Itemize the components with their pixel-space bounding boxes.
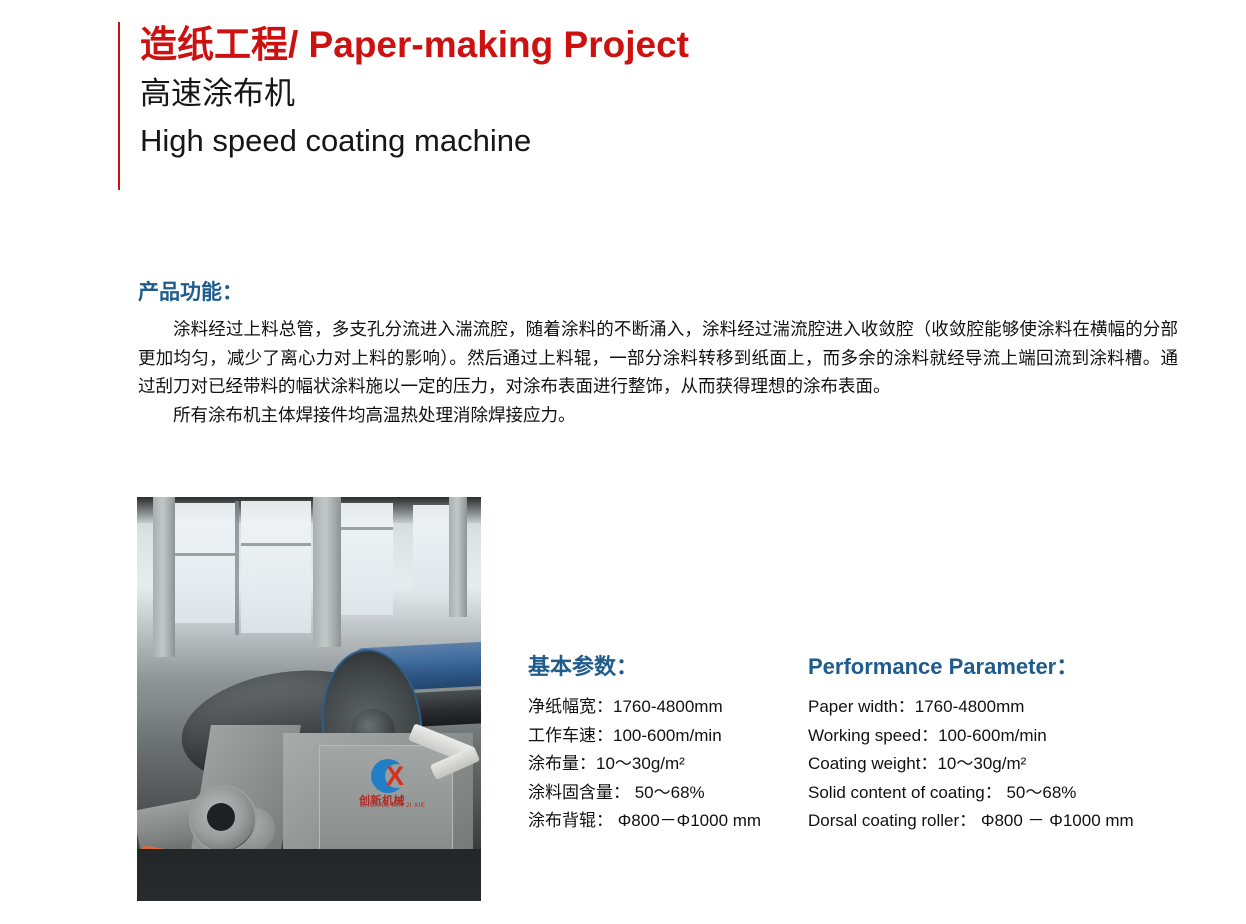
window-pane [413, 505, 453, 591]
spec-item: Solid content of coating： 50～68% [808, 779, 1208, 808]
page-subtitle-en: High speed coating machine [140, 118, 689, 164]
product-function-paragraph-1: 涂料经过上料总管，多支孔分流进入湍流腔，随着涂料的不断涌入，涂料经过湍流腔进入收… [138, 315, 1178, 401]
page-title: 造纸工程/ Paper-making Project [140, 20, 689, 70]
factory-floor [137, 849, 481, 901]
structural-column [449, 497, 467, 617]
machine-photo: X 创新机械 CHUANG XIN JI XIE [137, 497, 481, 901]
spec-item: 涂布量：10～30g/m² [528, 750, 808, 779]
window-pane [241, 501, 311, 633]
specs-english-column: Performance Parameter： Paper width：1760-… [808, 652, 1208, 836]
spec-item: Paper width：1760-4800mm [808, 693, 1208, 722]
window-pane [173, 503, 235, 623]
structural-column [313, 497, 341, 647]
window-mullion [173, 553, 235, 556]
pipe-flange-bore [207, 803, 235, 831]
specs-english-heading: Performance Parameter： [808, 652, 1208, 682]
spec-item: Working speed：100-600m/min [808, 722, 1208, 751]
specs-chinese-column: 基本参数： 净纸幅宽：1760-4800mm 工作车速：100-600m/min… [528, 652, 808, 836]
spec-item: 涂布背辊： Φ800－Φ1000 mm [528, 807, 808, 836]
header-text-group: 造纸工程/ Paper-making Project 高速涂布机 High sp… [140, 20, 689, 164]
window-mullion [235, 501, 239, 635]
window-pane [341, 503, 393, 615]
product-function-paragraph-2: 所有涂布机主体焊接件均高温热处理消除焊接应力。 [138, 401, 1178, 430]
product-function-section: 产品功能： 涂料经过上料总管，多支孔分流进入湍流腔，随着涂料的不断涌入，涂料经过… [138, 278, 1178, 429]
page-subtitle-cn: 高速涂布机 [140, 70, 689, 118]
logo-x-icon: X [386, 763, 404, 790]
spec-item: 涂料固含量： 50～68% [528, 779, 808, 808]
logo-company-name-pinyin: CHUANG XIN JI XIE [360, 803, 426, 809]
spec-item: Coating weight：10～30g/m² [808, 750, 1208, 779]
spec-item: 工作车速：100-600m/min [528, 722, 808, 751]
manufacturer-logo: X 创新机械 CHUANG XIN JI XIE [359, 759, 437, 811]
window-mullion [241, 543, 311, 546]
product-function-heading: 产品功能： [138, 278, 1178, 308]
spec-item: 净纸幅宽：1760-4800mm [528, 693, 808, 722]
specs-chinese-heading: 基本参数： [528, 652, 808, 682]
window-mullion [341, 527, 393, 530]
structural-column [153, 497, 175, 657]
header-accent-rule [118, 22, 120, 190]
spec-item: Dorsal coating roller： Φ800 － Φ1000 mm [808, 807, 1208, 836]
